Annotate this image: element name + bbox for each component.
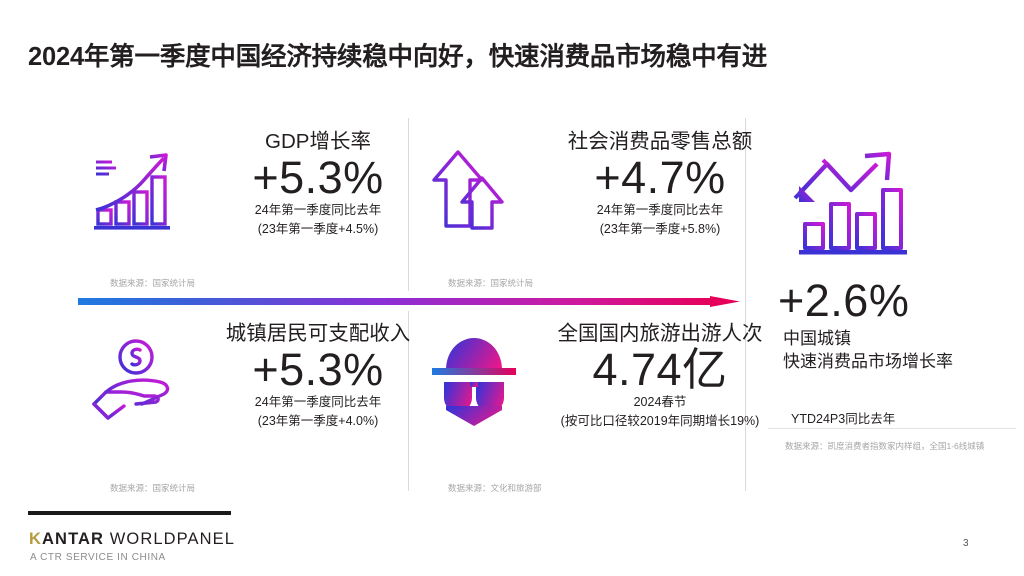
stat-label: 城镇居民可支配收入 — [193, 322, 443, 346]
stat-panel-gdp-body: GDP增长率 +5.3% 24年第一季度同比去年 (23年第一季度+4.5%) — [193, 130, 443, 240]
brand-tagline: A CTR SERVICE IN CHINA — [30, 552, 166, 563]
source-note-income: 数据来源：国家统计局 — [110, 482, 195, 494]
source-note-gdp: 数据来源：国家统计局 — [110, 277, 195, 289]
source-note-tourism: 数据来源：文化和旅游部 — [448, 482, 542, 494]
stat-note-secondary: (按可比口径较2019年同期增长19%) — [515, 412, 805, 431]
gradient-progress-arrow — [78, 294, 740, 305]
highlight-label-line-2: 快速消费品市场增长率 — [783, 351, 953, 374]
highlight-value: +2.6% — [778, 275, 909, 327]
page-number: 3 — [963, 538, 969, 549]
stat-value: +5.3% — [193, 154, 443, 201]
stat-note-secondary: (23年第一季度+4.0%) — [193, 412, 443, 431]
brand-name-bold: ANTAR — [42, 530, 104, 548]
stat-panel-income-body: 城镇居民可支配收入 +5.3% 24年第一季度同比去年 (23年第一季度+4.0… — [193, 322, 443, 432]
source-note-retail: 数据来源：国家统计局 — [448, 277, 533, 289]
stat-note-secondary: (23年第一季度+5.8%) — [515, 220, 805, 239]
highlight-label-line-1: 中国城镇 — [783, 328, 953, 351]
brand-name-light: WORLDPANEL — [104, 530, 235, 548]
stat-value: +5.3% — [193, 346, 443, 393]
stat-note-primary: 24年第一季度同比去年 — [515, 201, 805, 220]
highlight-divider — [768, 428, 1016, 429]
traveler-icon — [430, 330, 518, 431]
stat-value: +4.7% — [515, 154, 805, 201]
stat-note-primary: 24年第一季度同比去年 — [193, 393, 443, 412]
stat-value: 4.74亿 — [515, 346, 805, 393]
highlight-subnote: YTD24P3同比去年 — [791, 408, 895, 427]
bar-chart-growth-icon — [86, 144, 182, 245]
stat-label: 社会消费品零售总额 — [515, 130, 805, 154]
hand-coin-icon — [86, 338, 182, 433]
stat-panel-tourism-body: 全国国内旅游出游人次 4.74亿 2024春节 (按可比口径较2019年同期增长… — [515, 322, 805, 432]
stat-label: GDP增长率 — [193, 130, 443, 154]
brand-logo: KANTAR WORLDPANEL — [29, 530, 235, 549]
stat-label: 全国国内旅游出游人次 — [515, 322, 805, 346]
source-note-fmcg: 数据来源：凯度消费者指数家内样组，全国1-6线城镇 — [785, 440, 984, 452]
page-title: 2024年第一季度中国经济持续稳中向好，快速消费品市场稳中有进 — [28, 36, 767, 73]
chart-trend-up-icon — [793, 150, 923, 275]
brand-initial: K — [29, 530, 42, 548]
stat-note-primary: 24年第一季度同比去年 — [193, 201, 443, 220]
stat-panel-retail-body: 社会消费品零售总额 +4.7% 24年第一季度同比去年 (23年第一季度+5.8… — [515, 130, 805, 240]
footer-rule — [28, 511, 231, 515]
highlight-label: 中国城镇 快速消费品市场增长率 — [783, 328, 953, 374]
stat-note-primary: 2024春节 — [515, 393, 805, 412]
up-arrows-icon — [430, 144, 516, 245]
stat-note-secondary: (23年第一季度+4.5%) — [193, 220, 443, 239]
